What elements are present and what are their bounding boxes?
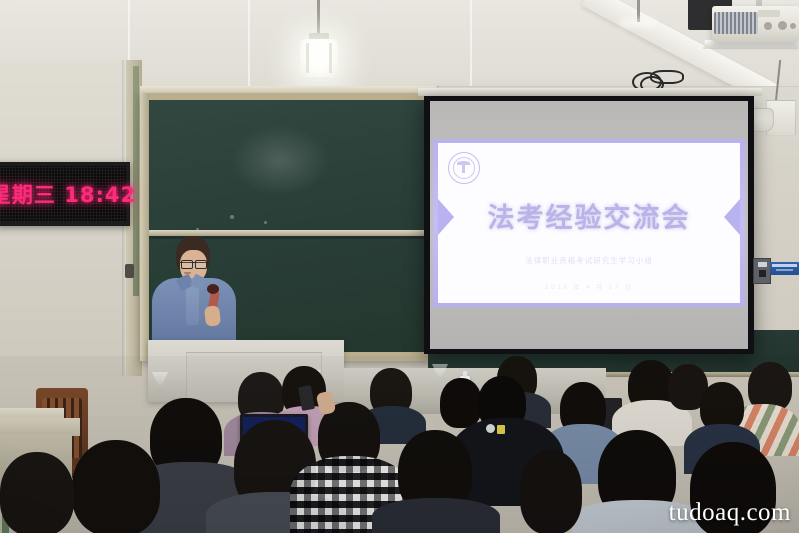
microphone-head bbox=[207, 284, 219, 294]
led-clock-panel: 星期三 18:42 bbox=[0, 162, 130, 226]
projector-vent bbox=[714, 12, 758, 34]
door-knob[interactable] bbox=[125, 264, 134, 278]
audience-head bbox=[0, 452, 74, 533]
blackboard-left-post bbox=[140, 93, 149, 361]
audience-shoulders bbox=[372, 498, 500, 533]
badge-icon bbox=[497, 425, 505, 434]
slide-date: 2019 年 4 月 17 日 bbox=[438, 281, 740, 291]
blue-wall-sign bbox=[770, 262, 799, 275]
chalk-mark bbox=[230, 215, 234, 219]
ceiling-seam bbox=[248, 0, 250, 96]
slide-title: 法考经验交流会 bbox=[438, 196, 740, 235]
audience-head bbox=[520, 450, 582, 533]
badge-icon bbox=[486, 424, 495, 433]
wall-seam bbox=[430, 86, 799, 87]
slide-subtitle: 法律职业资格考试研究生学习小组 bbox=[438, 255, 740, 266]
screen-mounting-rail bbox=[418, 88, 762, 96]
glasses-icon bbox=[195, 260, 207, 269]
ceiling-seam bbox=[470, 0, 472, 96]
presentation-slide: 法考经验交流会 法律职业资格考试研究生学习小组 2019 年 4 月 17 日 bbox=[438, 143, 740, 303]
watermark: tudoaq.com bbox=[669, 499, 791, 527]
university-seal-logo bbox=[448, 152, 480, 184]
lecture-hall-photo: 星期三 18:42 法考经验交流会 法律职业资格考试研究生学习小组 2019 年… bbox=[0, 0, 799, 533]
lamp-rod bbox=[317, 0, 320, 35]
audience-head bbox=[72, 440, 160, 533]
projector-knob bbox=[790, 23, 796, 29]
wall-notice-plate bbox=[753, 258, 771, 284]
led-clock-text: 星期三 18:42 bbox=[0, 179, 136, 209]
hanging-lamp-icon bbox=[620, 18, 656, 28]
cable-coil bbox=[650, 70, 684, 84]
projector-lens bbox=[778, 21, 787, 30]
chalk-mark bbox=[264, 221, 267, 224]
projector-knob bbox=[764, 22, 772, 30]
presenter-hand bbox=[204, 305, 221, 326]
hanging-lamp-icon bbox=[300, 39, 338, 77]
glasses-icon bbox=[181, 260, 193, 269]
projector-label bbox=[758, 10, 780, 17]
audience-head bbox=[440, 378, 482, 428]
